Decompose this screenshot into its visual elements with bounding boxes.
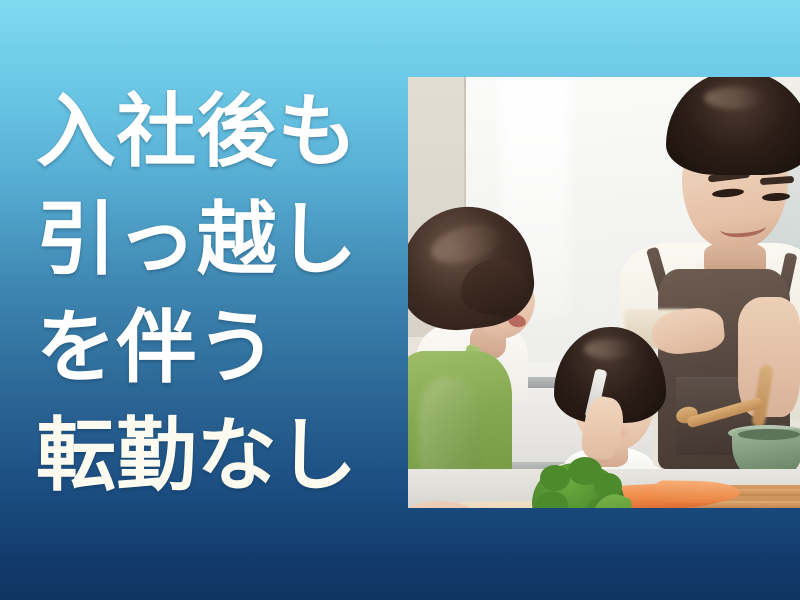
pot-interior xyxy=(738,429,800,440)
carrot-second xyxy=(654,480,740,503)
headline-line-2: 引っ越し xyxy=(36,186,396,294)
broccoli-floret xyxy=(540,465,570,491)
headline-line-4: 転勤なし xyxy=(36,402,396,510)
recruitment-banner: 入社後も 引っ越し を伴う 転勤なし xyxy=(0,0,800,600)
headline-block: 入社後も 引っ越し を伴う 転勤なし xyxy=(36,78,396,510)
father-arm xyxy=(738,297,800,417)
headline-line-3: を伴う xyxy=(36,294,396,402)
family-cooking-photo xyxy=(408,77,800,508)
father-hair-highlight xyxy=(704,87,766,109)
child-hair-highlight xyxy=(584,339,636,359)
headline-line-1: 入社後も xyxy=(36,78,396,186)
